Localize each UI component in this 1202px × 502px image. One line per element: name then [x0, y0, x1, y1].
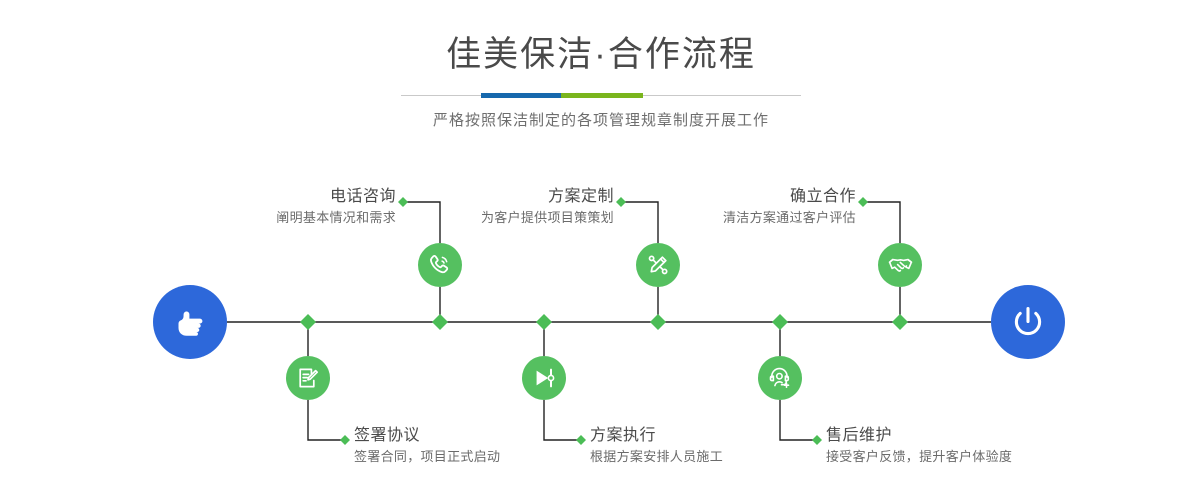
label-diamond-above-2	[616, 197, 626, 207]
step-label-above-2: 方案定制 为客户提供项目策策划	[481, 186, 614, 228]
label-diamond-above-1	[398, 197, 408, 207]
handshake-icon	[887, 252, 914, 279]
process-flow-diagram: 佳美保洁·合作流程 严格按照保洁制定的各项管理规章制度开展工作	[0, 0, 1202, 502]
customer-service-icon	[767, 365, 793, 391]
sign-document-icon	[295, 365, 321, 391]
timeline-diamond-5	[772, 314, 788, 330]
power-icon	[1007, 301, 1049, 343]
step-node-above-2[interactable]	[636, 243, 680, 287]
step-description: 根据方案安排人员施工	[590, 447, 723, 467]
label-diamond-below-3	[812, 435, 822, 445]
step-node-below-3[interactable]	[758, 356, 802, 400]
timeline-diamond-1	[300, 314, 316, 330]
step-label-below-2: 方案执行 根据方案安排人员施工	[590, 425, 723, 467]
step-description: 接受客户反馈，提升客户体验度	[826, 447, 1012, 467]
step-description: 阐明基本情况和需求	[276, 208, 396, 228]
step-node-above-3[interactable]	[878, 243, 922, 287]
step-description: 签署合同，项目正式启动	[354, 447, 500, 467]
timeline-diamond-4	[650, 314, 666, 330]
label-connector-above-1	[403, 202, 440, 243]
start-node[interactable]	[153, 285, 227, 359]
label-diamond-below-1	[340, 435, 350, 445]
label-connector-below-1	[308, 400, 345, 440]
step-label-below-3: 售后维护 接受客户反馈，提升客户体验度	[826, 425, 1012, 467]
timeline-diamond-3	[536, 314, 552, 330]
label-connector-above-2	[621, 202, 658, 243]
pencil-plan-icon	[645, 252, 671, 278]
step-label-above-3: 确立合作 清洁方案通过客户评估	[723, 186, 856, 228]
label-diamond-below-2	[576, 435, 586, 445]
step-description: 清洁方案通过客户评估	[723, 208, 856, 228]
execute-play-icon	[531, 365, 557, 391]
label-diamond-above-3	[858, 197, 868, 207]
step-label-below-1: 签署协议 签署合同，项目正式启动	[354, 425, 500, 467]
label-connector-below-2	[544, 400, 581, 440]
step-title: 方案定制	[481, 186, 614, 208]
step-description: 为客户提供项目策策划	[481, 208, 614, 228]
phone-call-icon	[427, 252, 453, 278]
step-node-below-1[interactable]	[286, 356, 330, 400]
step-label-above-1: 电话咨询 阐明基本情况和需求	[276, 186, 396, 228]
step-title: 售后维护	[826, 425, 1012, 447]
end-node[interactable]	[991, 285, 1065, 359]
step-title: 确立合作	[723, 186, 856, 208]
step-title: 签署协议	[354, 425, 500, 447]
step-title: 电话咨询	[276, 186, 396, 208]
step-node-below-2[interactable]	[522, 356, 566, 400]
label-connector-below-3	[780, 400, 817, 440]
timeline-diamond-6	[892, 314, 908, 330]
step-title: 方案执行	[590, 425, 723, 447]
label-connector-above-3	[863, 202, 900, 243]
pointing-hand-icon	[170, 302, 210, 342]
timeline-diamond-2	[432, 314, 448, 330]
step-node-above-1[interactable]	[418, 243, 462, 287]
